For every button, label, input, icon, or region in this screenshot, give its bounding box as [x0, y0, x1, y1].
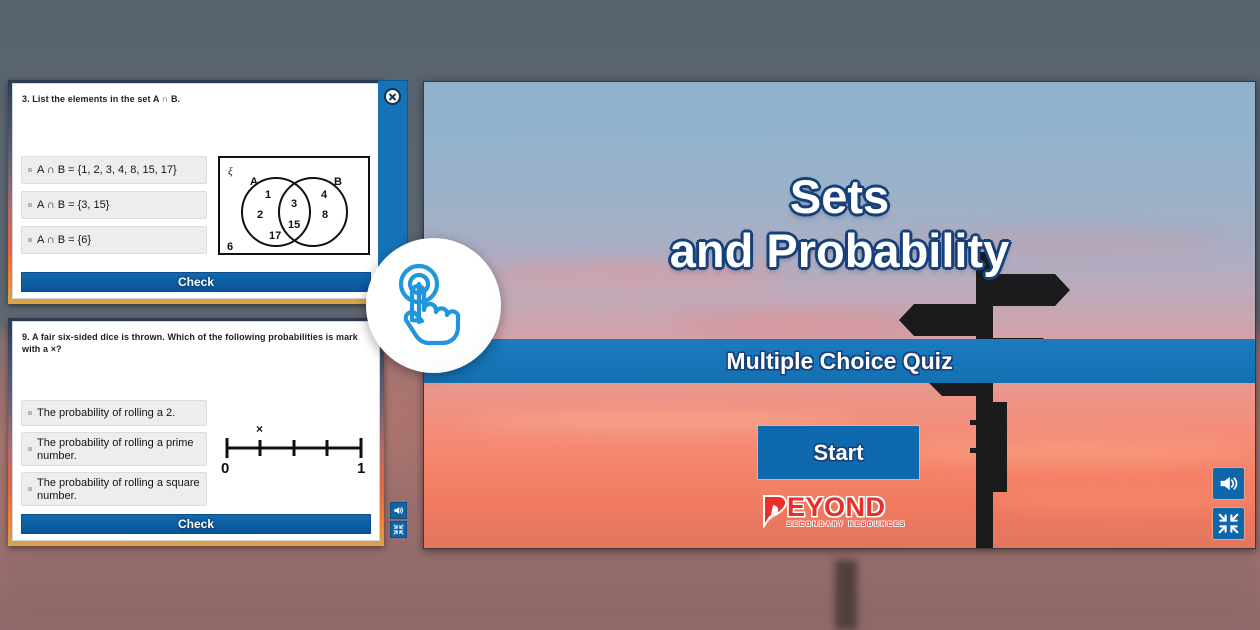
svg-text:4: 4 [321, 189, 328, 201]
svg-text:ξ: ξ [228, 166, 233, 178]
backdrop-signpost-blur [835, 560, 857, 630]
tap-hand-icon-svg [386, 258, 482, 354]
sound-icon-svg [393, 505, 404, 516]
svg-text:6: 6 [227, 241, 233, 253]
number-line: × 0 1 [213, 420, 373, 480]
option-item[interactable]: The probability of rolling a 2. [21, 400, 207, 426]
svg-text:×: × [256, 422, 263, 436]
svg-text:A: A [250, 176, 258, 188]
close-tab[interactable] [378, 80, 408, 270]
start-button-label: Start [813, 440, 863, 466]
venn-diagram: ξ A B 1 2 17 3 15 4 8 6 [218, 156, 370, 255]
svg-text:B: B [334, 176, 342, 188]
option-label: The probability of rolling a 2. [37, 407, 175, 420]
check-button-label: Check [178, 517, 214, 531]
question-text: 9. A fair six-sided dice is thrown. Whic… [22, 331, 369, 355]
sound-icon[interactable] [390, 502, 407, 519]
option-item[interactable]: A ∩ B = {3, 15} [21, 191, 207, 219]
venn-diagram-svg: ξ A B 1 2 17 3 15 4 8 6 [220, 158, 372, 257]
option-label: The probability of rolling a square numb… [37, 477, 200, 502]
beyond-logo: EYOND SECONDARY RESOURCES [760, 494, 906, 528]
option-bullet-icon [28, 447, 32, 451]
svg-text:8: 8 [322, 209, 328, 221]
exit-fullscreen-icon-svg [1218, 513, 1239, 534]
subtitle-label: Multiple Choice Quiz [726, 348, 952, 375]
subtitle-bar: Multiple Choice Quiz [424, 339, 1255, 383]
title-line-2: and Probability [424, 224, 1255, 278]
option-bullet-icon [28, 411, 32, 415]
main-slide[interactable]: Sets and Probability Multiple Choice Qui… [423, 81, 1256, 549]
beyond-logo-mark-icon [760, 494, 790, 528]
svg-text:17: 17 [269, 230, 281, 242]
title-line-1: Sets [424, 170, 1255, 224]
option-bullet-icon [28, 168, 32, 172]
option-label: A ∩ B = {3, 15} [37, 199, 109, 212]
slide-paper: 9. A fair six-sided dice is thrown. Whic… [12, 321, 380, 541]
slide-paper: 3. List the elements in the set A ∩ B. A… [12, 83, 380, 299]
question-text: 3. List the elements in the set A ∩ B. [22, 93, 367, 105]
exit-fullscreen-icon[interactable] [390, 521, 407, 538]
thumbnail-question-9[interactable]: 9. A fair six-sided dice is thrown. Whic… [8, 318, 384, 546]
option-item[interactable]: The probability of rolling a square numb… [21, 472, 207, 506]
option-label: The probability of rolling a prime numbe… [37, 437, 200, 462]
beyond-logo-tagline: SECONDARY RESOURCES [787, 522, 906, 528]
check-button[interactable]: Check [21, 272, 371, 292]
tap-hand-icon [366, 238, 501, 373]
option-bullet-icon [28, 203, 32, 207]
option-bullet-icon [28, 238, 32, 242]
option-item[interactable]: A ∩ B = {1, 2, 3, 4, 8, 15, 17} [21, 156, 207, 184]
svg-text:15: 15 [288, 219, 300, 231]
svg-text:1: 1 [265, 189, 271, 201]
option-list: A ∩ B = {1, 2, 3, 4, 8, 15, 17} A ∩ B = … [21, 156, 207, 254]
main-slide-tool-strip [1212, 467, 1245, 540]
exit-fullscreen-icon-svg [393, 524, 404, 535]
exit-fullscreen-icon[interactable] [1212, 507, 1245, 540]
option-list: The probability of rolling a 2. The prob… [21, 400, 207, 506]
option-item[interactable]: A ∩ B = {6} [21, 226, 207, 254]
beyond-logo-name: EYOND [787, 494, 906, 521]
close-icon[interactable] [384, 88, 401, 105]
sound-icon[interactable] [1212, 467, 1245, 500]
option-bullet-icon [28, 487, 32, 491]
slide-title: Sets and Probability [424, 170, 1255, 277]
signpost-silhouette [894, 252, 1074, 549]
svg-text:0: 0 [221, 460, 229, 477]
svg-text:2: 2 [257, 209, 263, 221]
svg-text:1: 1 [357, 460, 365, 477]
check-button-label: Check [178, 275, 214, 289]
svg-text:3: 3 [291, 198, 297, 210]
number-line-svg: × 0 1 [213, 420, 373, 480]
thumbnail-question-3[interactable]: 3. List the elements in the set A ∩ B. A… [8, 80, 384, 304]
option-label: A ∩ B = {6} [37, 234, 91, 247]
check-button[interactable]: Check [21, 514, 371, 534]
start-button[interactable]: Start [757, 425, 920, 480]
thumbnail-tool-strip [390, 502, 407, 538]
option-label: A ∩ B = {1, 2, 3, 4, 8, 15, 17} [37, 164, 177, 177]
sound-icon-svg [1218, 473, 1239, 494]
option-item[interactable]: The probability of rolling a prime numbe… [21, 432, 207, 466]
